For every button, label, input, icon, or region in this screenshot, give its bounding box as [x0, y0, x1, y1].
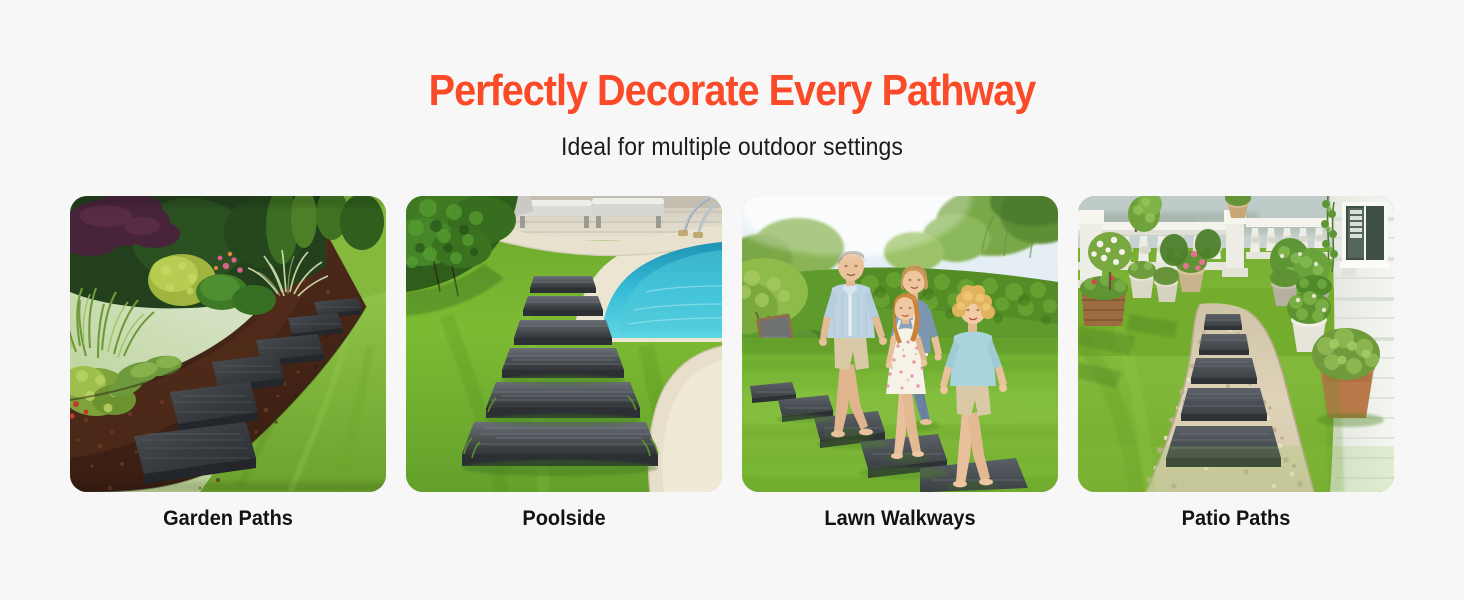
page-subtitle: Ideal for multiple outdoor settings — [59, 131, 1406, 163]
scene-card-lawn-walkways[interactable]: Lawn Walkways — [742, 196, 1058, 492]
scene-card-list: Garden Paths — [70, 196, 1394, 492]
patio-paths-image[interactable] — [1078, 196, 1394, 492]
promo-banner: Perfectly Decorate Every Pathway Ideal f… — [0, 0, 1464, 600]
garden-paths-image[interactable] — [70, 196, 386, 492]
lawn-walkways-image[interactable] — [742, 196, 1058, 492]
page-title: Perfectly Decorate Every Pathway — [73, 66, 1391, 116]
scene-card-caption: Garden Paths — [78, 506, 378, 532]
scene-card-caption: Lawn Walkways — [750, 506, 1050, 532]
scene-card-caption: Patio Paths — [1086, 506, 1386, 532]
poolside-image[interactable] — [406, 196, 722, 492]
scene-card-patio-paths[interactable]: Patio Paths — [1078, 196, 1394, 492]
scene-card-poolside[interactable]: Poolside — [406, 196, 722, 492]
scene-card-garden-paths[interactable]: Garden Paths — [70, 196, 386, 492]
scene-card-caption: Poolside — [414, 506, 714, 532]
